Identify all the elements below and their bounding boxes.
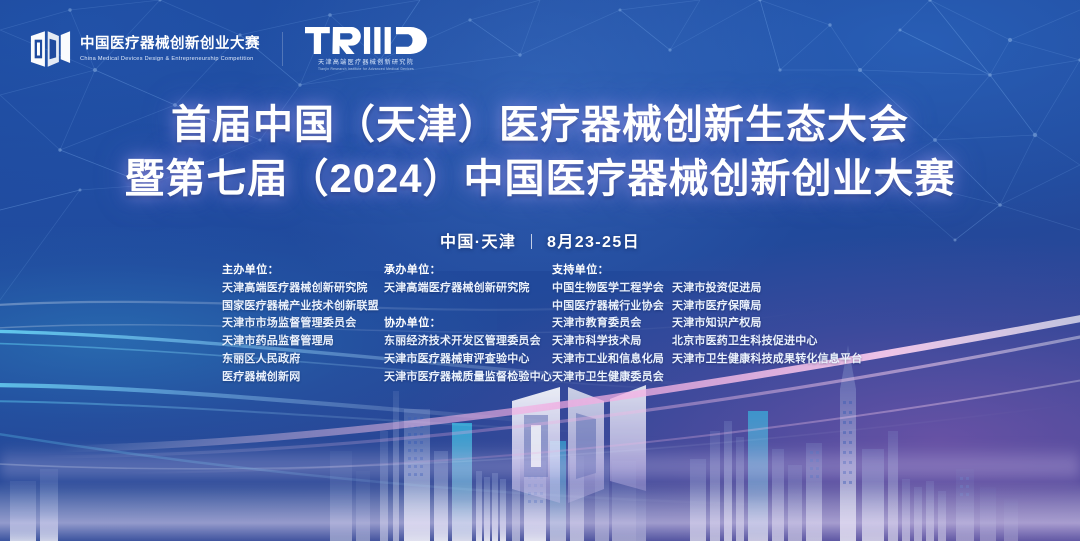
column-spacer [384, 298, 552, 316]
organizer-item: 天津市药品监督管理局 [222, 333, 384, 351]
organizer-item: 天津市卫生健康委员会 [552, 369, 672, 387]
organizer-columns: 主办单位： 天津高端医疗器械创新研究院 国家医疗器械产业技术创新联盟 天津市市场… [222, 262, 862, 387]
organizer-item: 天津市知识产权局 [672, 315, 862, 333]
page-title: 首届中国（天津）医疗器械创新生态大会 暨第七届（2024）中国医疗器械创新创业大… [0, 98, 1080, 207]
organizer-column-supporter-a: 支持单位： 中国生物医学工程学会 中国医疗器械行业协会 天津市教育委员会 天津市… [552, 262, 672, 387]
logo-divider [282, 32, 283, 66]
organizer-heading: 协办单位： [384, 315, 552, 333]
organizer-column-host: 主办单位： 天津高端医疗器械创新研究院 国家医疗器械产业技术创新联盟 天津市市场… [222, 262, 384, 387]
competition-logo: 中国医疗器械创新创业大赛 China Medical Devices Desig… [30, 30, 260, 68]
organizer-item: 天津高端医疗器械创新研究院 [384, 280, 552, 298]
organizer-item: 东丽经济技术开发区管理委员会 [384, 333, 552, 351]
organizer-item: 天津市科学技术局 [552, 333, 672, 351]
trmd-wordmark-icon [305, 27, 427, 54]
organizer-heading: 支持单位： [552, 262, 672, 280]
event-meta: 中国·天津 8月23-25日 [0, 228, 1080, 252]
organizer-item: 中国医疗器械行业协会 [552, 298, 672, 316]
organizer-item: 天津市医疗器械质量监督检验中心 [384, 369, 552, 387]
title-line-2: 暨第七届（2024）中国医疗器械创新创业大赛 [0, 152, 1080, 206]
competition-logo-title-en: China Medical Devices Design & Entrepren… [80, 55, 260, 61]
meta-separator [531, 234, 532, 249]
organizer-item: 医疗器械创新网 [222, 369, 384, 387]
organizer-item: 天津高端医疗器械创新研究院 [222, 280, 384, 298]
event-location: 中国·天津 [440, 234, 516, 251]
organizer-item: 中国生物医学工程学会 [552, 280, 672, 298]
conference-banner: 中国医疗器械创新创业大赛 China Medical Devices Desig… [0, 0, 1080, 541]
competition-logo-title-cn: 中国医疗器械创新创业大赛 [80, 36, 260, 53]
organizer-item: 天津市市场监督管理委员会 [222, 315, 384, 333]
organizer-item: 北京市医药卫生科技促进中心 [672, 333, 862, 351]
open-book-logo-icon [30, 30, 71, 68]
institute-logo: 天津高端医疗器械创新研究院 Tianjin Research Institute… [305, 27, 427, 71]
institute-subtitle-cn: 天津高端医疗器械创新研究院 [318, 57, 414, 66]
organizer-column-supporter-b: 天津市投资促进局 天津市医疗保障局 天津市知识产权局 北京市医药卫生科技促进中心… [672, 262, 862, 369]
title-line-1: 首届中国（天津）医疗器械创新生态大会 [0, 98, 1080, 152]
event-date: 8月23-25日 [547, 234, 640, 251]
organizer-item: 东丽区人民政府 [222, 351, 384, 369]
organizer-item: 天津市工业和信息化局 [552, 351, 672, 369]
institute-subtitle-en: Tianjin Research Institute for Advanced … [318, 67, 414, 71]
organizer-column-undertaker: 承办单位： 天津高端医疗器械创新研究院 协办单位： 东丽经济技术开发区管理委员会… [384, 262, 552, 387]
organizer-item: 天津市医疗保障局 [672, 298, 862, 316]
organizer-item: 天津市卫生健康科技成果转化信息平台 [672, 351, 862, 369]
organizer-item: 国家医疗器械产业技术创新联盟 [222, 298, 384, 316]
column-spacer [672, 262, 862, 280]
organizer-heading: 承办单位： [384, 262, 552, 280]
organizer-item: 天津市医疗器械审评查验中心 [384, 351, 552, 369]
organizer-heading: 主办单位： [222, 262, 384, 280]
header-logo-bar: 中国医疗器械创新创业大赛 China Medical Devices Desig… [30, 27, 427, 71]
organizer-item: 天津市投资促进局 [672, 280, 862, 298]
organizer-item: 天津市教育委员会 [552, 315, 672, 333]
